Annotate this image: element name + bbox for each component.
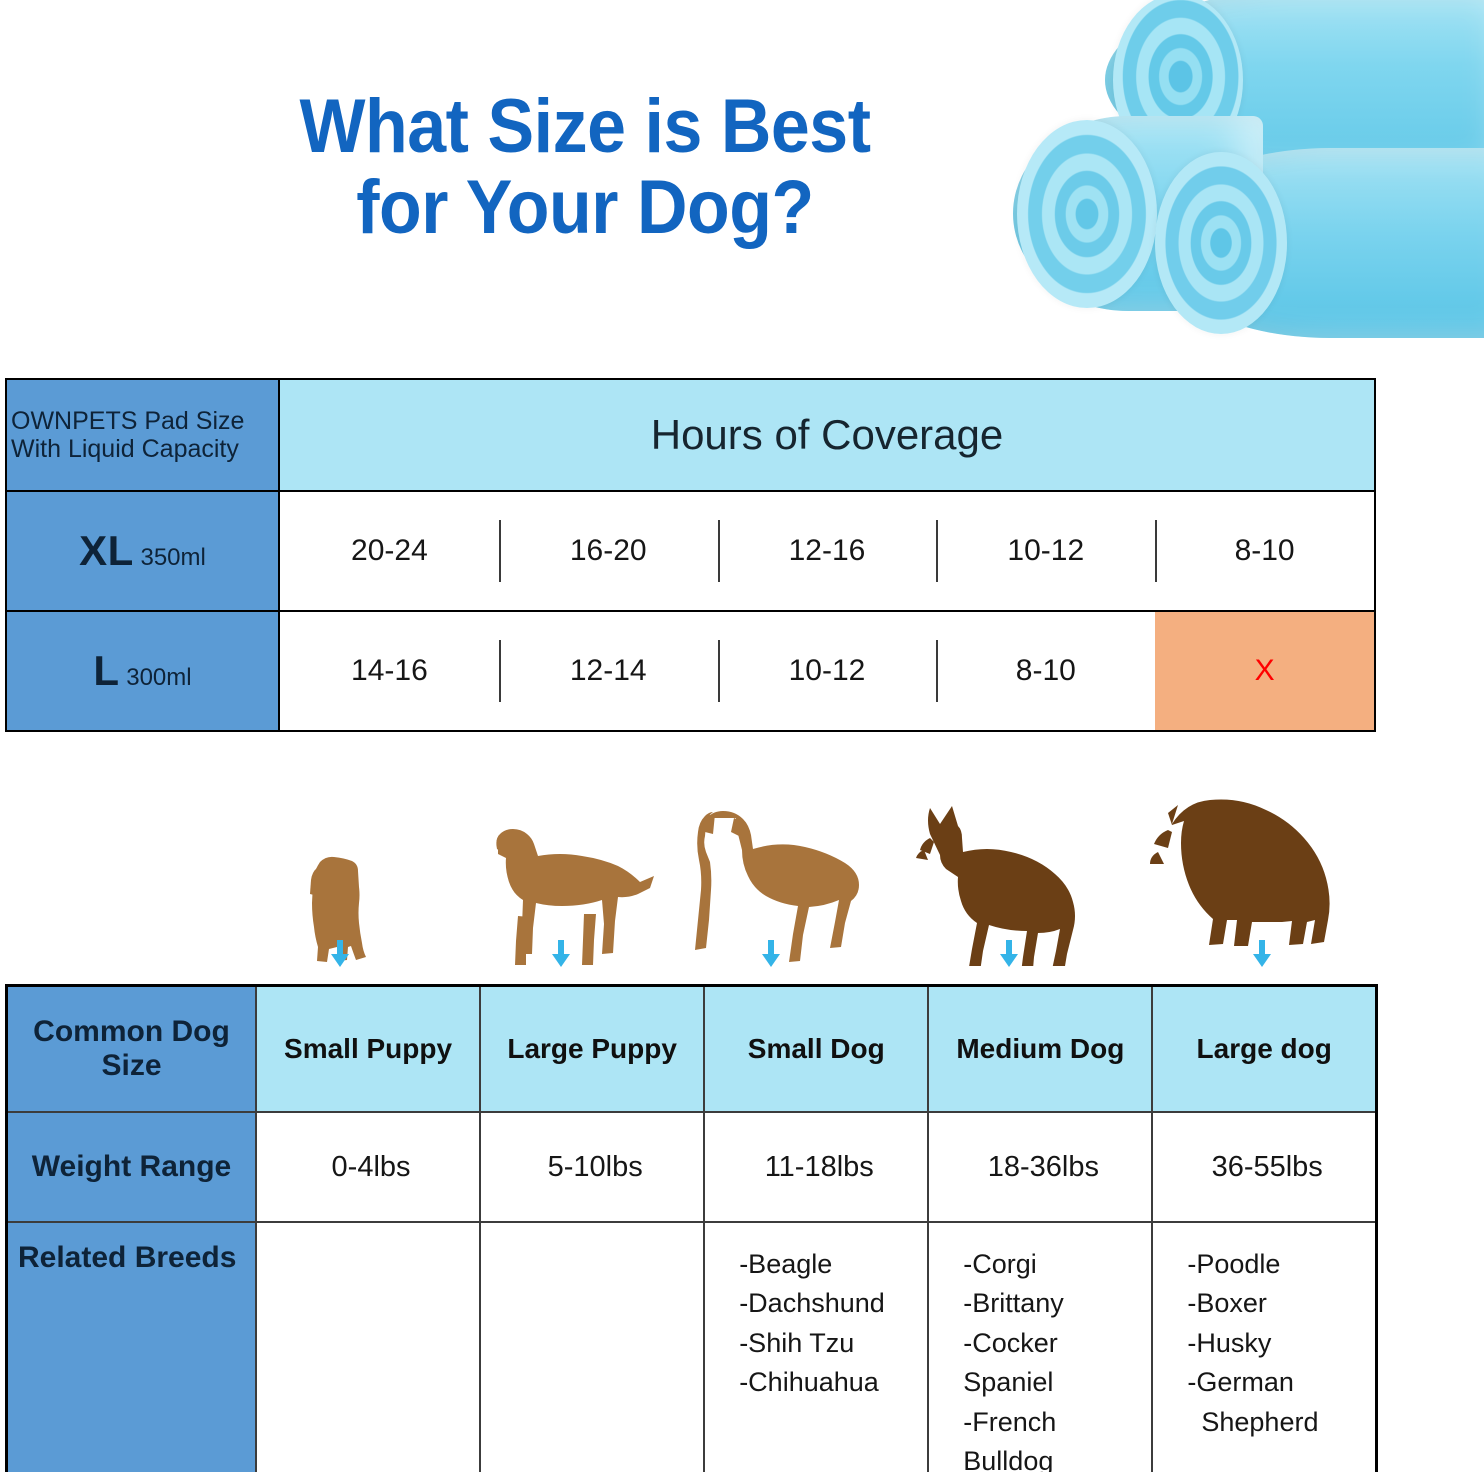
pad-roll-front-spiral: [1155, 152, 1287, 334]
coverage-table: OWNPETS Pad Size With Liquid Capacity Ho…: [5, 378, 1376, 732]
coverage-cell: 8-10: [1155, 492, 1374, 610]
coverage-cell: 10-12: [936, 492, 1155, 610]
breed-item: -Husky: [1187, 1324, 1375, 1363]
breed-item: Shepherd: [1187, 1403, 1375, 1442]
breed-item: -German: [1187, 1363, 1375, 1402]
breed-item: -Dachshund: [739, 1284, 927, 1323]
breed-item: -Chihuahua: [739, 1363, 927, 1402]
medium-dog-silhouette: [900, 794, 1090, 966]
breed-item: -Cocker Spaniel: [963, 1324, 1151, 1403]
breed-item: -Poodle: [1187, 1245, 1375, 1284]
coverage-cell: 8-10: [936, 612, 1155, 730]
pad-size-xl-name: XL: [79, 527, 134, 574]
pad-size-l: L 300ml: [6, 611, 279, 731]
large-dog-icon: [1130, 796, 1335, 966]
breed-item: -Corgi: [963, 1245, 1151, 1284]
breeds-cell-large-puppy: [480, 1222, 704, 1472]
column-header-large-puppy: Large Puppy: [480, 986, 704, 1113]
coverage-cell: 14-16: [280, 612, 499, 730]
small-dog-silhouette: [685, 806, 860, 966]
dog-size-table: Common Dog Size Small Puppy Large Puppy …: [5, 984, 1378, 1472]
coverage-cell-unavailable: X: [1155, 612, 1374, 730]
down-arrow-icon: [327, 940, 353, 968]
breeds-cell-medium-dog: -Corgi-Brittany-Cocker Spaniel-French Bu…: [928, 1222, 1152, 1472]
hero-section: What Size is Best for Your Dog?: [0, 0, 1484, 370]
coverage-cell: 10-12: [718, 612, 937, 730]
size-table-breeds-row: Related Breeds -Beagle-Dachshund-Shih Tz…: [7, 1222, 1377, 1472]
small-puppy-silhouette: [290, 846, 390, 966]
dog-silhouette-row: [0, 780, 1484, 980]
weight-cell: 18-36lbs: [928, 1112, 1152, 1222]
row-label-related-breeds: Related Breeds: [7, 1222, 257, 1472]
breed-item: -Brittany: [963, 1284, 1151, 1323]
weight-cell: 0-4lbs: [256, 1112, 480, 1222]
breed-item: -Beagle: [739, 1245, 927, 1284]
page-title: What Size is Best for Your Dog?: [185, 86, 985, 249]
down-arrow-icon: [1249, 940, 1275, 968]
coverage-values-l: 14-16 12-14 10-12 8-10 X: [279, 611, 1375, 731]
down-arrow-icon: [996, 940, 1022, 968]
column-header-small-dog: Small Dog: [704, 986, 928, 1113]
large-puppy-silhouette: [466, 826, 656, 966]
pad-size-xl-capacity: 350ml: [140, 544, 205, 571]
coverage-cell: 12-16: [718, 492, 937, 610]
down-arrow-icon: [758, 940, 784, 968]
pad-size-l-name: L: [93, 647, 119, 694]
pad-size-xl: XL 350ml: [6, 491, 279, 611]
pad-roll-left-spiral: [1017, 120, 1157, 308]
pee-pads-product-image: [995, 0, 1484, 356]
pad-size-l-capacity: 300ml: [126, 664, 191, 691]
coverage-header-row: OWNPETS Pad Size With Liquid Capacity Ho…: [6, 379, 1375, 491]
size-table-weight-row: Weight Range 0-4lbs 5-10lbs 11-18lbs 18-…: [7, 1112, 1377, 1222]
breeds-cell-small-dog: -Beagle-Dachshund-Shih Tzu-Chihuahua: [704, 1222, 928, 1472]
weight-cell: 5-10lbs: [480, 1112, 704, 1222]
down-arrow-icon: [548, 940, 574, 968]
breeds-cell-large-dog: -Poodle-Boxer-Husky-GermanShepherd: [1152, 1222, 1376, 1472]
row-label-common-dog-size: Common Dog Size: [7, 986, 257, 1113]
column-header-medium-dog: Medium Dog: [928, 986, 1152, 1113]
size-table-header-row: Common Dog Size Small Puppy Large Puppy …: [7, 986, 1377, 1113]
weight-cell: 11-18lbs: [704, 1112, 928, 1222]
breed-item: -French Bulldog: [963, 1403, 1151, 1472]
coverage-cell: 20-24: [280, 492, 499, 610]
coverage-cell: 16-20: [499, 492, 718, 610]
row-label-weight-range: Weight Range: [7, 1112, 257, 1222]
column-header-small-puppy: Small Puppy: [256, 986, 480, 1113]
large-dog-silhouette: [1130, 796, 1335, 966]
medium-dog-icon: [900, 794, 1090, 966]
weight-cell: 36-55lbs: [1152, 1112, 1376, 1222]
breeds-cell-small-puppy: [256, 1222, 480, 1472]
infographic-page: What Size is Best for Your Dog? OWNPETS …: [0, 0, 1484, 1472]
breed-item: -Shih Tzu: [739, 1324, 927, 1363]
column-header-large-dog: Large dog: [1152, 986, 1376, 1113]
coverage-row-l: L 300ml 14-16 12-14 10-12 8-10 X: [6, 611, 1375, 731]
breed-item: -Boxer: [1187, 1284, 1375, 1323]
coverage-row-xl: XL 350ml 20-24 16-20 12-16 10-12 8-10: [6, 491, 1375, 611]
hours-of-coverage-header: Hours of Coverage: [279, 379, 1375, 491]
coverage-cell: 12-14: [499, 612, 718, 730]
coverage-values-xl: 20-24 16-20 12-16 10-12 8-10: [279, 491, 1375, 611]
pad-size-corner-label: OWNPETS Pad Size With Liquid Capacity: [6, 379, 279, 491]
